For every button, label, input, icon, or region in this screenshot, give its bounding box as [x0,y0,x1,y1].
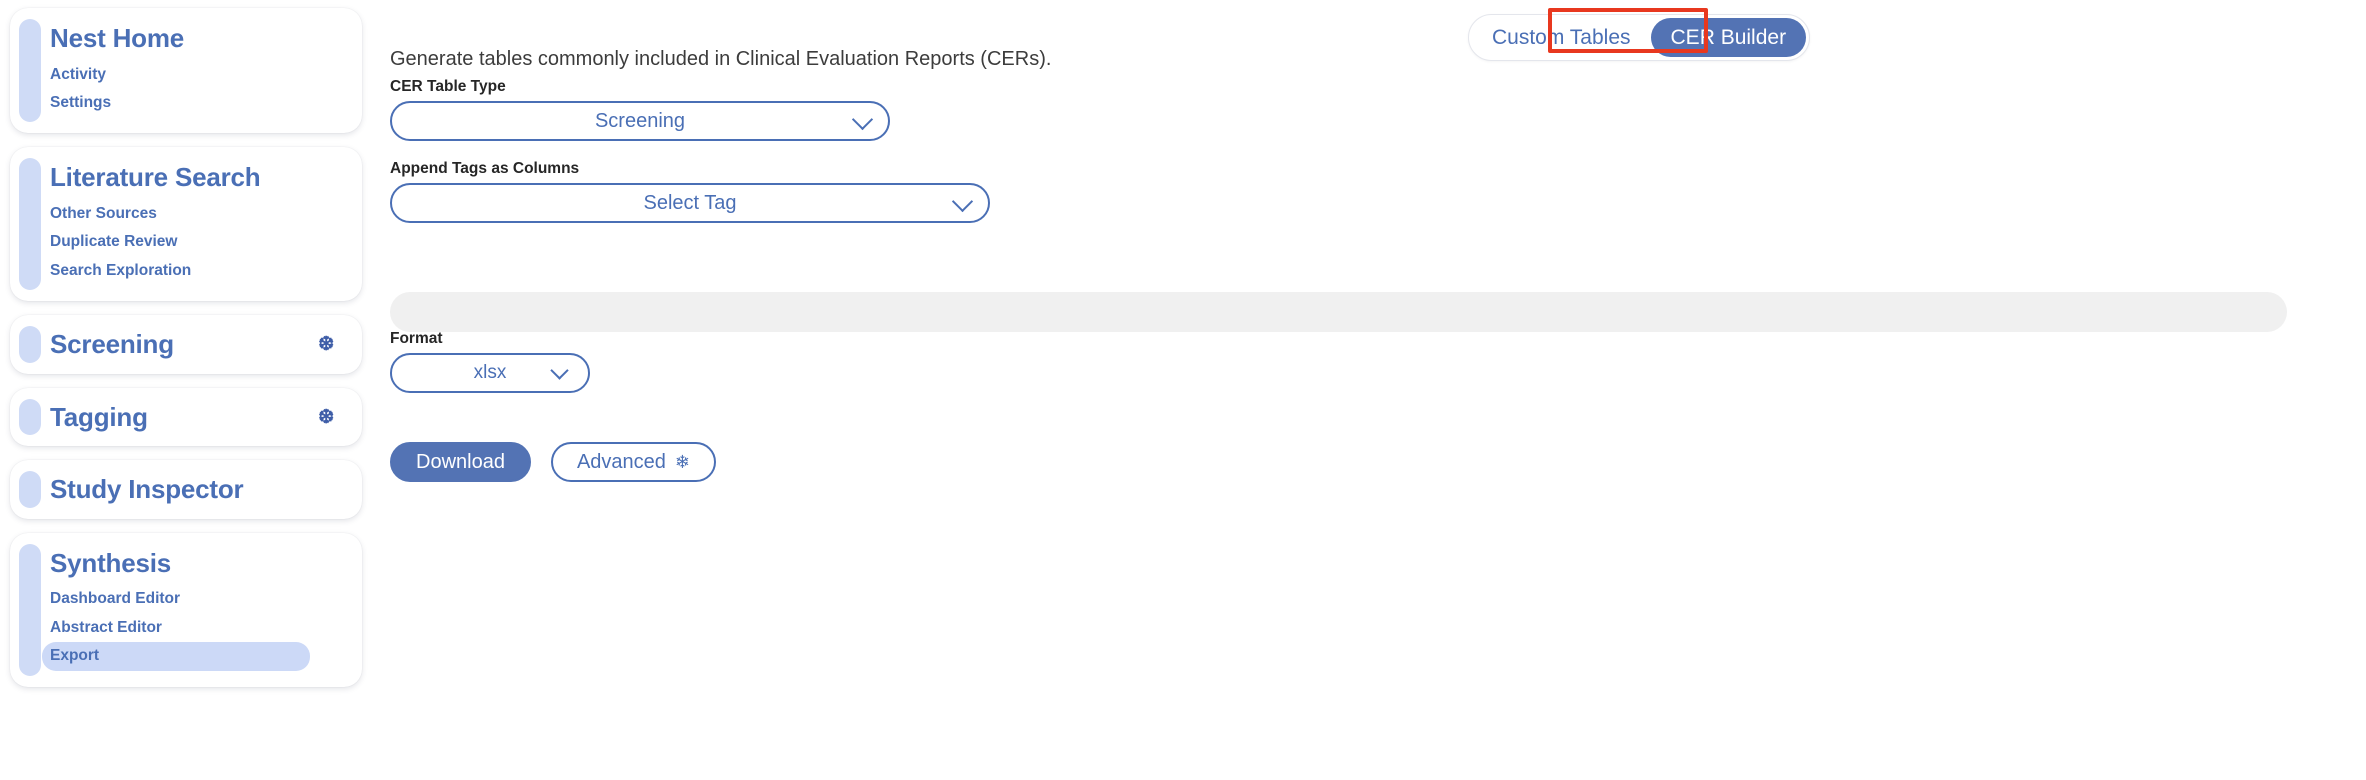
nav-card-title: Tagging [50,401,148,434]
nav-card-literature-search: Literature SearchOther SourcesDuplicate … [10,147,362,301]
nav-card-links: ActivitySettings [50,61,340,118]
nav-card-accent-bar [19,326,41,363]
nav-card-header[interactable]: Nest Home [50,22,340,55]
sidebar-item-abstract-editor[interactable]: Abstract Editor [50,614,340,642]
select-format[interactable]: xlsx [390,353,590,393]
app-root: Nest HomeActivitySettingsLiterature Sear… [0,0,2366,780]
selected-tags-placeholder-bar [390,292,2287,332]
nav-card-accent-bar [19,544,41,676]
nav-card-tagging: Tagging❆ [10,388,362,447]
sidebar-item-other-sources[interactable]: Other Sources [50,200,340,228]
field-format: Format xlsx [390,330,590,393]
nav-card-title: Literature Search [50,161,260,194]
nav-card-header[interactable]: Literature Search [50,161,340,194]
advanced-button-label: Advanced [577,451,666,474]
advanced-button[interactable]: Advanced ❄ [551,442,716,482]
tab-group: Custom TablesCER Builder [1468,14,1810,61]
page-description: Generate tables commonly included in Cli… [390,48,1051,71]
nav-card-title: Screening [50,328,174,361]
label-format: Format [390,330,590,348]
nav-card-study-inspector: Study Inspector [10,460,362,519]
nav-card-title: Synthesis [50,547,171,580]
nav-card-header[interactable]: Study Inspector [50,473,340,506]
sidebar-item-export[interactable]: Export [42,642,310,670]
gear-icon[interactable]: ❆ [318,335,334,354]
nav-card-links: Other SourcesDuplicate ReviewSearch Expl… [50,200,340,285]
nav-card-nest-home: Nest HomeActivitySettings [10,8,362,133]
nav-card-header[interactable]: Screening❆ [50,328,340,361]
select-format-value: xlsx [474,362,507,384]
nav-card-title: Nest Home [50,22,184,55]
nav-card-accent-bar [19,19,41,122]
select-cer-table-type-value: Screening [595,110,685,133]
nav-card-header[interactable]: Synthesis [50,547,340,580]
gear-icon: ❄ [675,453,690,471]
main-content: Custom TablesCER Builder Generate tables… [390,0,2366,780]
action-buttons: Download Advanced ❄ [390,442,716,482]
nav-card-synthesis: SynthesisDashboard EditorAbstract Editor… [10,533,362,687]
gear-icon[interactable]: ❆ [318,408,334,427]
sidebar-item-settings[interactable]: Settings [50,89,340,117]
chevron-down-icon [852,109,873,130]
download-button[interactable]: Download [390,442,531,482]
select-cer-table-type[interactable]: Screening [390,101,890,141]
tab-cer-builder[interactable]: CER Builder [1651,18,1807,57]
download-button-label: Download [416,451,505,474]
sidebar-item-search-exploration[interactable]: Search Exploration [50,257,340,285]
nav-card-accent-bar [19,471,41,508]
select-tag-value: Select Tag [643,192,736,215]
sidebar-item-activity[interactable]: Activity [50,61,340,89]
sidebar-item-dashboard-editor[interactable]: Dashboard Editor [50,585,340,613]
nav-card-links: Dashboard EditorAbstract EditorExport [50,585,340,670]
nav-card-title: Study Inspector [50,473,243,506]
field-append-tags: Append Tags as Columns Select Tag [390,160,990,223]
view-tab-bar: Custom TablesCER Builder [1468,14,1810,61]
field-cer-table-type: CER Table Type Screening [390,78,890,141]
sidebar-item-duplicate-review[interactable]: Duplicate Review [50,228,340,256]
nav-card-screening: Screening❆ [10,315,362,374]
chevron-down-icon [550,361,568,379]
nav-card-accent-bar [19,399,41,436]
tab-custom-tables[interactable]: Custom Tables [1472,18,1651,57]
label-cer-table-type: CER Table Type [390,78,890,96]
nav-card-header[interactable]: Tagging❆ [50,401,340,434]
chevron-down-icon [952,191,973,212]
select-tag[interactable]: Select Tag [390,183,990,223]
label-append-tags: Append Tags as Columns [390,160,990,178]
sidebar: Nest HomeActivitySettingsLiterature Sear… [10,8,362,687]
nav-card-accent-bar [19,158,41,290]
